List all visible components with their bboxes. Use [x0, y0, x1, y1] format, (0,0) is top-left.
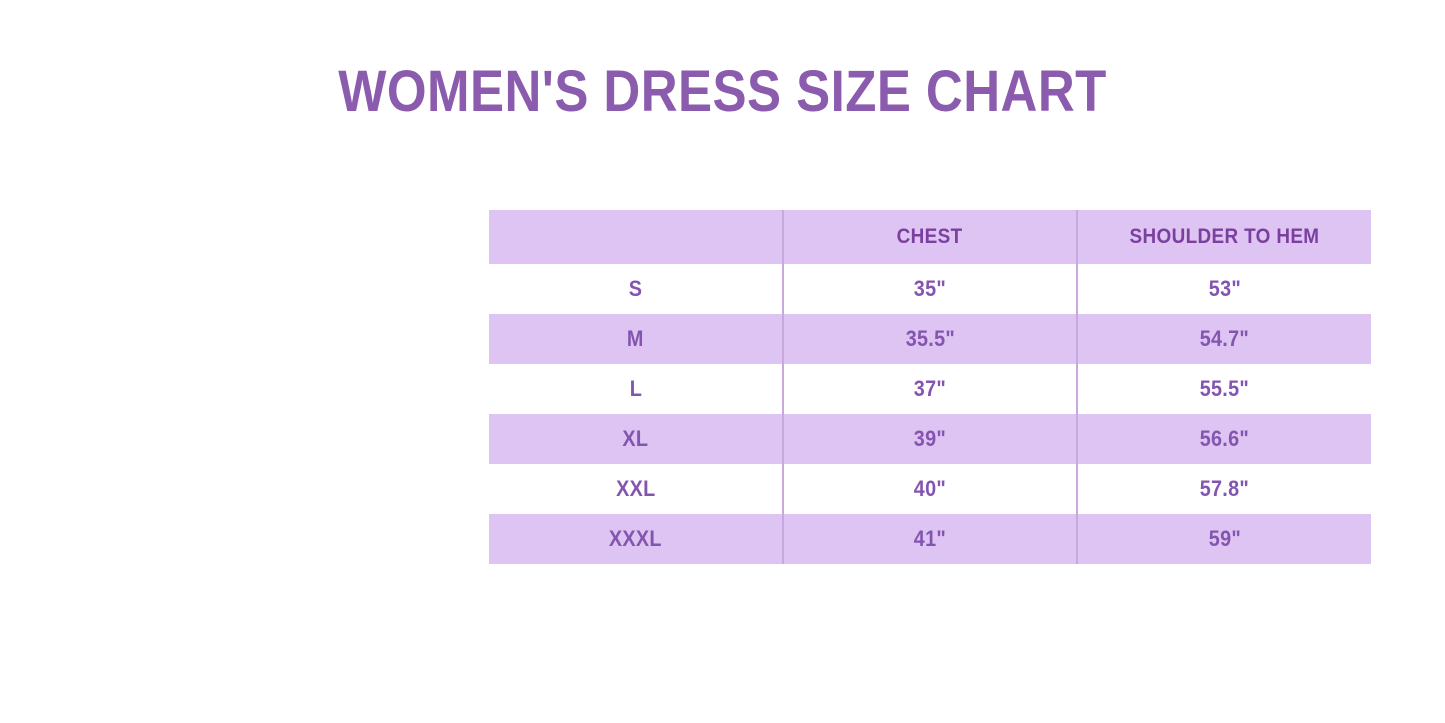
cell-chest: 41" — [783, 514, 1077, 564]
cell-chest-value: 37" — [914, 376, 946, 402]
cell-size: S — [489, 264, 783, 314]
cell-shoulder-to-hem-value: 54.7" — [1200, 326, 1249, 352]
cell-size-value: XXL — [616, 476, 655, 502]
cell-shoulder-to-hem-value: 59" — [1208, 526, 1240, 552]
cell-shoulder-to-hem: 53" — [1077, 264, 1371, 314]
cell-size: XXL — [489, 464, 783, 514]
cell-size-value: XL — [623, 426, 649, 452]
cell-size-value: S — [629, 276, 642, 302]
cell-size: XL — [489, 414, 783, 464]
cell-chest-value: 35" — [914, 276, 946, 302]
cell-chest: 40" — [783, 464, 1077, 514]
cell-shoulder-to-hem: 59" — [1077, 514, 1371, 564]
column-header-shoulder-to-hem-label: SHOULDER TO HEM — [1130, 225, 1320, 249]
cell-chest: 37" — [783, 364, 1077, 414]
table-header: CHEST SHOULDER TO HEM — [489, 210, 1371, 264]
column-header-chest-label: CHEST — [897, 225, 963, 249]
cell-size: L — [489, 364, 783, 414]
cell-size-value: M — [627, 326, 644, 352]
table-body: S 35" 53" M 35.5" 54.7" — [489, 264, 1371, 564]
table-header-row: CHEST SHOULDER TO HEM — [489, 210, 1371, 264]
cell-shoulder-to-hem-value: 53" — [1208, 276, 1240, 302]
table-row: XXXL 41" 59" — [489, 514, 1371, 564]
cell-chest: 35.5" — [783, 314, 1077, 364]
table-row: XL 39" 56.6" — [489, 414, 1371, 464]
table-row: S 35" 53" — [489, 264, 1371, 314]
cell-shoulder-to-hem: 56.6" — [1077, 414, 1371, 464]
cell-shoulder-to-hem: 54.7" — [1077, 314, 1371, 364]
cell-chest-value: 35.5" — [905, 326, 954, 352]
table-row: XXL 40" 57.8" — [489, 464, 1371, 514]
cell-shoulder-to-hem-value: 56.6" — [1200, 426, 1249, 452]
cell-chest: 35" — [783, 264, 1077, 314]
table-row: L 37" 55.5" — [489, 364, 1371, 414]
cell-chest-value: 41" — [914, 526, 946, 552]
cell-chest-value: 39" — [914, 426, 946, 452]
cell-chest-value: 40" — [914, 476, 946, 502]
cell-chest: 39" — [783, 414, 1077, 464]
cell-size-value: L — [629, 376, 641, 402]
cell-shoulder-to-hem-value: 55.5" — [1200, 376, 1249, 402]
column-header-chest: CHEST — [783, 210, 1077, 264]
table-row: M 35.5" 54.7" — [489, 314, 1371, 364]
column-header-size — [489, 210, 783, 264]
size-chart-page: WOMEN'S DRESS SIZE CHART CHEST SHOULDER … — [0, 0, 1445, 723]
page-title: WOMEN'S DRESS SIZE CHART — [87, 56, 1359, 128]
column-header-shoulder-to-hem: SHOULDER TO HEM — [1077, 210, 1371, 264]
cell-size-value: XXXL — [609, 526, 662, 552]
size-chart-table: CHEST SHOULDER TO HEM S 35" 53" — [489, 210, 1371, 564]
cell-shoulder-to-hem: 57.8" — [1077, 464, 1371, 514]
cell-size: XXXL — [489, 514, 783, 564]
cell-size: M — [489, 314, 783, 364]
cell-shoulder-to-hem: 55.5" — [1077, 364, 1371, 414]
cell-shoulder-to-hem-value: 57.8" — [1200, 476, 1249, 502]
